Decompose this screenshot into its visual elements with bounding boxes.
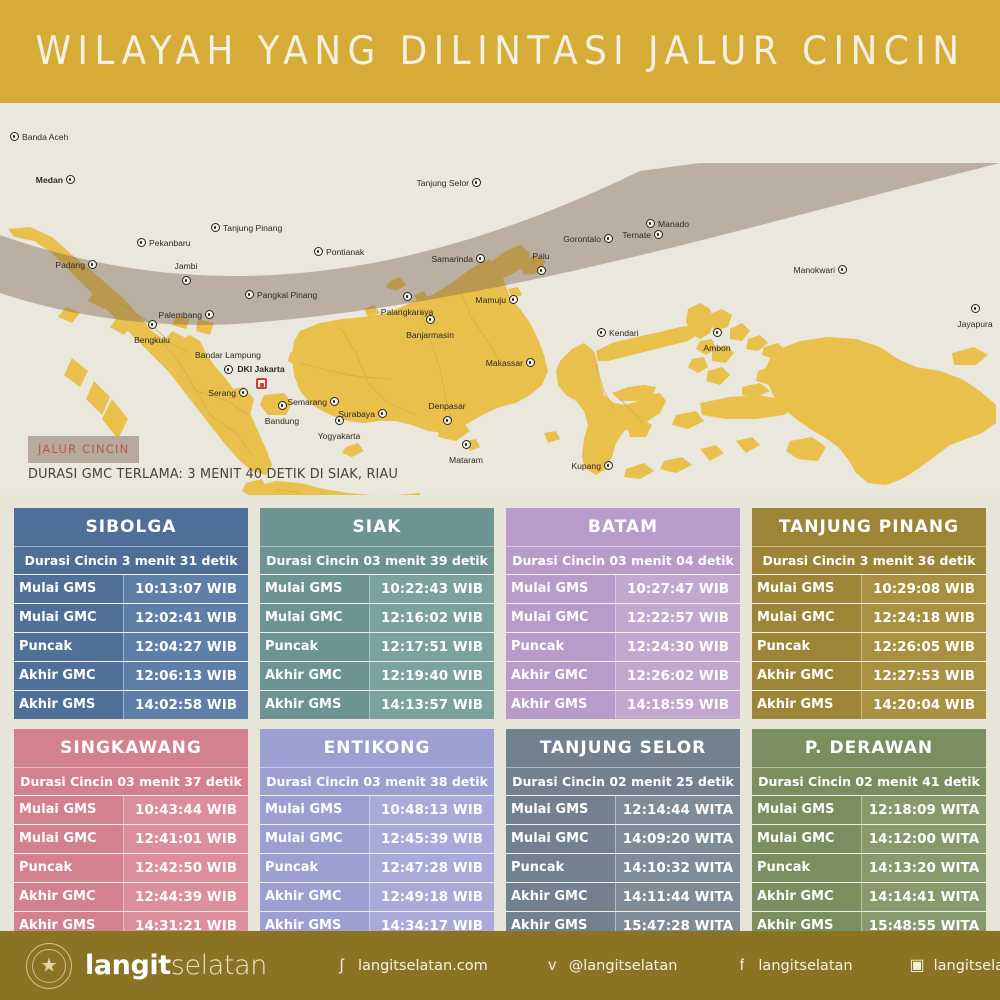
map-city-kupang: Kupang xyxy=(571,457,613,475)
row-label: Puncak xyxy=(14,633,124,661)
row-time: 10:29:08 WIB xyxy=(862,575,986,603)
row-label: Mulai GMC xyxy=(260,825,370,853)
row-label: Mulai GMS xyxy=(506,796,616,824)
brand-name-light: selatan xyxy=(171,950,267,981)
card-row: Akhir GMC14:14:41 WITA xyxy=(752,882,986,911)
map-city-manokwari: Manokwari xyxy=(793,261,847,279)
card-row: Puncak14:10:32 WITA xyxy=(506,853,740,882)
row-label: Mulai GMS xyxy=(506,575,616,603)
city-marker-icon xyxy=(838,265,847,274)
row-label: Puncak xyxy=(752,633,862,661)
card-row: Akhir GMC12:49:18 WIB xyxy=(260,882,494,911)
langitselatan-seal-icon: ★ xyxy=(26,943,72,989)
row-time: 10:27:47 WIB xyxy=(616,575,740,603)
map-city-banjarmasin: Banjarmasin xyxy=(395,311,465,340)
page-footer: ★ langitselatan ʃlangitselatan.comᴠ@lang… xyxy=(0,931,1000,1000)
map-city-tanjung-selor: Tanjung Selor xyxy=(416,174,481,192)
map-city-palu: Palu xyxy=(506,251,576,280)
city-marker-icon xyxy=(472,178,481,187)
card-row: Akhir GMS14:13:57 WIB xyxy=(260,690,494,719)
map-city-pontianak: Pontianak xyxy=(314,243,364,261)
map-city-serang: Serang xyxy=(208,384,248,402)
row-label: Akhir GMC xyxy=(14,883,124,911)
card-row: Mulai GMS12:18:09 WITA xyxy=(752,795,986,824)
row-time: 14:18:59 WIB xyxy=(616,691,740,719)
card-row: Akhir GMC12:19:40 WIB xyxy=(260,661,494,690)
city-marker-icon xyxy=(278,401,287,410)
city-marker-icon xyxy=(443,416,452,425)
city-marker-icon xyxy=(66,175,75,184)
city-label: Mamuju xyxy=(475,295,506,305)
card-batam: BATAMDurasi Cincin 03 menit 04 detikMula… xyxy=(506,508,740,719)
row-label: Akhir GMS xyxy=(260,691,370,719)
row-label: Puncak xyxy=(14,854,124,882)
card-row: Mulai GMC12:16:02 WIB xyxy=(260,603,494,632)
map-city-ambon: Ambon xyxy=(682,324,752,353)
row-label: Puncak xyxy=(506,633,616,661)
city-label: Serang xyxy=(208,388,236,398)
card-title: TANJUNG SELOR xyxy=(506,729,740,767)
map-city-pangkal-pinang: Pangkal Pinang xyxy=(245,286,317,304)
row-label: Akhir GMC xyxy=(260,883,370,911)
city-label: Palu xyxy=(506,251,576,261)
city-label: Gorontalo xyxy=(563,234,601,244)
row-label: Mulai GMC xyxy=(506,825,616,853)
row-time: 14:02:58 WIB xyxy=(124,691,248,719)
card-row: Akhir GMS14:02:58 WIB xyxy=(14,690,248,719)
map-city-tanjung-pinang: Tanjung Pinang xyxy=(211,219,282,237)
card-title: ENTIKONG xyxy=(260,729,494,767)
map-city-pekanbaru: Pekanbaru xyxy=(137,234,191,252)
city-label: Jayapura xyxy=(940,319,1000,329)
card-row: Puncak12:26:05 WIB xyxy=(752,632,986,661)
row-label: Mulai GMS xyxy=(260,796,370,824)
card-row: Mulai GMC14:09:20 WITA xyxy=(506,824,740,853)
row-time: 14:12:00 WITA xyxy=(862,825,986,853)
city-label: Pangkal Pinang xyxy=(257,290,317,300)
page-title: WILAYAH YANG DILINTASI JALUR CINCIN xyxy=(35,29,965,74)
city-marker-icon xyxy=(476,254,485,263)
row-label: Mulai GMC xyxy=(506,604,616,632)
rss-icon: ʃ xyxy=(333,958,350,974)
row-time: 12:06:13 WIB xyxy=(124,662,248,690)
city-label: Makassar xyxy=(486,358,523,368)
facebook-icon: f xyxy=(733,958,750,974)
card-row: Akhir GMS14:18:59 WIB xyxy=(506,690,740,719)
row-label: Mulai GMC xyxy=(14,825,124,853)
social-handle: langitselatan.com xyxy=(358,958,488,974)
brand-name-bold: langit xyxy=(85,950,171,981)
row-time: 12:44:39 WIB xyxy=(124,883,248,911)
city-marker-icon xyxy=(182,276,191,285)
city-label: Denpasar xyxy=(412,401,482,411)
city-label: Kendari xyxy=(609,328,639,338)
row-label: Mulai GMC xyxy=(14,604,124,632)
row-label: Mulai GMC xyxy=(752,604,862,632)
row-label: Akhir GMS xyxy=(752,691,862,719)
city-label: Tanjung Pinang xyxy=(223,223,282,233)
map-city-gorontalo: Gorontalo xyxy=(563,230,613,248)
card-row: Mulai GMS10:29:08 WIB xyxy=(752,574,986,603)
map-city-mataram: Mataram xyxy=(431,436,501,465)
card-row: Puncak12:42:50 WIB xyxy=(14,853,248,882)
row-label: Akhir GMC xyxy=(752,662,862,690)
card-duration: Durasi Cincin 02 menit 25 detik xyxy=(506,767,740,795)
city-marker-icon xyxy=(971,304,980,313)
row-time: 12:16:02 WIB xyxy=(370,604,494,632)
row-time: 12:19:40 WIB xyxy=(370,662,494,690)
row-time: 12:22:57 WIB xyxy=(616,604,740,632)
card-row: Puncak12:47:28 WIB xyxy=(260,853,494,882)
row-time: 14:09:20 WITA xyxy=(616,825,740,853)
city-marker-icon xyxy=(10,132,19,141)
city-marker-icon xyxy=(88,260,97,269)
city-label: Ternate xyxy=(622,230,651,240)
row-label: Mulai GMS xyxy=(752,575,862,603)
card-row: Akhir GMC14:11:44 WITA xyxy=(506,882,740,911)
row-label: Akhir GMS xyxy=(506,691,616,719)
row-time: 10:22:43 WIB xyxy=(370,575,494,603)
card-row: Mulai GMS10:48:13 WIB xyxy=(260,795,494,824)
card-duration: Durasi Cincin 02 menit 41 detik xyxy=(752,767,986,795)
map-city-bengkulu: Bengkulu xyxy=(117,316,187,345)
legend-label: JALUR CINCIN xyxy=(38,442,129,456)
row-time: 12:26:02 WIB xyxy=(616,662,740,690)
social-link-instagram[interactable]: ▣langitselatanmedia xyxy=(909,958,1000,974)
card-title: BATAM xyxy=(506,508,740,546)
city-marker-icon xyxy=(537,266,546,275)
row-label: Mulai GMS xyxy=(260,575,370,603)
card-entikong: ENTIKONGDurasi Cincin 03 menit 38 detikM… xyxy=(260,729,494,940)
row-time: 14:13:20 WITA xyxy=(862,854,986,882)
row-time: 12:41:01 WIB xyxy=(124,825,248,853)
map-city-samarinda: Samarinda xyxy=(431,250,485,268)
card-row: Mulai GMC12:02:41 WIB xyxy=(14,603,248,632)
card-row: Puncak12:04:27 WIB xyxy=(14,632,248,661)
city-timing-cards: SIBOLGADurasi Cincin 3 menit 31 detikMul… xyxy=(14,508,986,940)
row-time: 12:18:09 WITA xyxy=(862,796,986,824)
row-label: Mulai GMS xyxy=(14,796,124,824)
city-marker-icon xyxy=(245,290,254,299)
city-label: Pontianak xyxy=(326,247,364,257)
row-label: Akhir GMS xyxy=(14,691,124,719)
social-handle: @langitselatan xyxy=(569,958,678,974)
row-label: Akhir GMC xyxy=(14,662,124,690)
row-label: Mulai GMS xyxy=(14,575,124,603)
map-city-banda-aceh: Banda Aceh xyxy=(10,128,68,146)
city-label: Tanjung Selor xyxy=(416,178,469,188)
city-marker-icon xyxy=(713,328,722,337)
city-marker-icon xyxy=(205,310,214,319)
city-label: Kupang xyxy=(571,461,601,471)
row-label: Mulai GMC xyxy=(752,825,862,853)
row-time: 14:10:32 WITA xyxy=(616,854,740,882)
card-title: SIAK xyxy=(260,508,494,546)
map-city-padang: Padang xyxy=(55,256,97,274)
social-links: ʃlangitselatan.comᴠ@langitselatanflangit… xyxy=(333,958,1000,974)
row-time: 10:13:07 WIB xyxy=(124,575,248,603)
indonesia-map: Banda AcehMedanTanjung PinangPekanbaruPa… xyxy=(0,103,1000,495)
card-duration: Durasi Cincin 03 menit 39 detik xyxy=(260,546,494,574)
social-handle: langitselatan xyxy=(758,958,852,974)
social-handle: langitselatanmedia xyxy=(934,958,1000,974)
map-city-denpasar: Denpasar xyxy=(412,401,482,430)
city-label: Semarang xyxy=(287,397,327,407)
card-title: SINGKAWANG xyxy=(14,729,248,767)
row-label: Puncak xyxy=(260,633,370,661)
row-time: 12:24:30 WIB xyxy=(616,633,740,661)
city-label: Jambi xyxy=(151,261,221,271)
city-label: Manokwari xyxy=(793,265,835,275)
row-time: 12:04:27 WIB xyxy=(124,633,248,661)
instagram-icon: ▣ xyxy=(909,958,926,974)
brand-wordmark: langitselatan xyxy=(85,952,267,979)
infographic-page: WILAYAH YANG DILINTASI JALUR CINCIN xyxy=(0,0,1000,1000)
map-caption: DURASI GMC TERLAMA: 3 MENIT 40 DETIK DI … xyxy=(28,466,398,482)
map-city-jayapura: Jayapura xyxy=(940,300,1000,329)
card-row: Akhir GMC12:06:13 WIB xyxy=(14,661,248,690)
social-link-twitter[interactable]: ᴠ@langitselatan xyxy=(544,958,678,974)
city-marker-icon xyxy=(654,230,663,239)
row-label: Puncak xyxy=(752,854,862,882)
card-duration: Durasi Cincin 03 menit 37 detik xyxy=(14,767,248,795)
card-row: Mulai GMC12:41:01 WIB xyxy=(14,824,248,853)
card-row: Akhir GMS14:20:04 WIB xyxy=(752,690,986,719)
row-time: 12:27:53 WIB xyxy=(862,662,986,690)
card-row: Mulai GMS10:43:44 WIB xyxy=(14,795,248,824)
map-city-medan: Medan xyxy=(36,171,75,189)
city-label: Yogyakarta xyxy=(304,431,374,441)
map-city-kendari: Kendari xyxy=(597,324,639,342)
card-row: Akhir GMC12:44:39 WIB xyxy=(14,882,248,911)
row-time: 14:14:41 WITA xyxy=(862,883,986,911)
card-row: Puncak14:13:20 WITA xyxy=(752,853,986,882)
row-time: 12:45:39 WIB xyxy=(370,825,494,853)
card-duration: Durasi Cincin 03 menit 04 detik xyxy=(506,546,740,574)
row-time: 12:14:44 WITA xyxy=(616,796,740,824)
card-row: Puncak12:24:30 WIB xyxy=(506,632,740,661)
row-time: 10:48:13 WIB xyxy=(370,796,494,824)
row-time: 12:47:28 WIB xyxy=(370,854,494,882)
card-row: Puncak12:17:51 WIB xyxy=(260,632,494,661)
row-label: Puncak xyxy=(260,854,370,882)
city-label: Banjarmasin xyxy=(395,330,465,340)
card-sibolga: SIBOLGADurasi Cincin 3 menit 31 detikMul… xyxy=(14,508,248,719)
city-label: DKI Jakarta xyxy=(226,364,296,374)
row-time: 12:17:51 WIB xyxy=(370,633,494,661)
map-city-makassar: Makassar xyxy=(486,354,535,372)
row-time: 14:11:44 WITA xyxy=(616,883,740,911)
card-row: Mulai GMC12:24:18 WIB xyxy=(752,603,986,632)
city-label: Samarinda xyxy=(431,254,473,264)
card-row: Mulai GMC12:45:39 WIB xyxy=(260,824,494,853)
brand-logo: ★ langitselatan xyxy=(26,943,267,989)
legend-jalur-cincin: JALUR CINCIN xyxy=(28,436,139,463)
map-city-semarang: Semarang xyxy=(287,393,339,411)
card-row: Mulai GMS10:13:07 WIB xyxy=(14,574,248,603)
card-row: Mulai GMC12:22:57 WIB xyxy=(506,603,740,632)
city-marker-icon xyxy=(211,223,220,232)
row-label: Akhir GMC xyxy=(506,662,616,690)
city-marker-icon xyxy=(403,292,412,301)
city-marker-icon xyxy=(597,328,606,337)
card-row: Mulai GMS10:22:43 WIB xyxy=(260,574,494,603)
map-city-surabaya: Surabaya xyxy=(338,405,387,423)
city-label: Banda Aceh xyxy=(22,132,68,142)
row-time: 14:13:57 WIB xyxy=(370,691,494,719)
row-time: 12:42:50 WIB xyxy=(124,854,248,882)
card-title: P. DERAWAN xyxy=(752,729,986,767)
row-label: Akhir GMC xyxy=(752,883,862,911)
city-marker-icon xyxy=(256,378,267,389)
social-link-facebook[interactable]: flangitselatan xyxy=(733,958,852,974)
row-label: Puncak xyxy=(506,854,616,882)
city-marker-icon xyxy=(239,388,248,397)
city-label: Bengkulu xyxy=(117,335,187,345)
map-city-jambi: Jambi xyxy=(151,261,221,290)
city-marker-icon xyxy=(462,440,471,449)
card-row: Mulai GMS10:27:47 WIB xyxy=(506,574,740,603)
map-city-mamuju: Mamuju xyxy=(475,291,518,309)
city-label: Pekanbaru xyxy=(149,238,191,248)
city-label: Padang xyxy=(55,260,85,270)
map-city-ternate: Ternate xyxy=(622,226,663,244)
city-label: Mataram xyxy=(431,455,501,465)
card-row: Akhir GMC12:26:02 WIB xyxy=(506,661,740,690)
card-row: Akhir GMC12:27:53 WIB xyxy=(752,661,986,690)
city-label: Surabaya xyxy=(338,409,375,419)
social-link-rss[interactable]: ʃlangitselatan.com xyxy=(333,958,488,974)
row-time: 12:24:18 WIB xyxy=(862,604,986,632)
card-duration: Durasi Cincin 03 menit 38 detik xyxy=(260,767,494,795)
card-row: Mulai GMS12:14:44 WITA xyxy=(506,795,740,824)
card-siak: SIAKDurasi Cincin 03 menit 39 detikMulai… xyxy=(260,508,494,719)
city-marker-icon xyxy=(604,461,613,470)
row-time: 12:02:41 WIB xyxy=(124,604,248,632)
row-time: 14:20:04 WIB xyxy=(862,691,986,719)
card-row: Mulai GMC14:12:00 WITA xyxy=(752,824,986,853)
card-title: SIBOLGA xyxy=(14,508,248,546)
city-marker-icon xyxy=(509,295,518,304)
city-marker-icon xyxy=(526,358,535,367)
row-time: 12:26:05 WIB xyxy=(862,633,986,661)
city-marker-icon xyxy=(426,315,435,324)
city-label: Bandar Lampung xyxy=(193,350,263,360)
page-header: WILAYAH YANG DILINTASI JALUR CINCIN xyxy=(0,0,1000,103)
row-time: 12:49:18 WIB xyxy=(370,883,494,911)
card-tanjung-selor: TANJUNG SELORDurasi Cincin 02 menit 25 d… xyxy=(506,729,740,940)
card-duration: Durasi Cincin 3 menit 36 detik xyxy=(752,546,986,574)
city-marker-icon xyxy=(137,238,146,247)
city-label: Ambon xyxy=(682,343,752,353)
card-duration: Durasi Cincin 3 menit 31 detik xyxy=(14,546,248,574)
city-marker-icon xyxy=(314,247,323,256)
card-singkawang: SINGKAWANGDurasi Cincin 03 menit 37 deti… xyxy=(14,729,248,940)
row-label: Mulai GMS xyxy=(752,796,862,824)
city-label: Medan xyxy=(36,175,63,185)
city-marker-icon xyxy=(604,234,613,243)
row-label: Mulai GMC xyxy=(260,604,370,632)
card-title: TANJUNG PINANG xyxy=(752,508,986,546)
card-tanjung-pinang: TANJUNG PINANGDurasi Cincin 3 menit 36 d… xyxy=(752,508,986,719)
row-time: 10:43:44 WIB xyxy=(124,796,248,824)
row-label: Akhir GMC xyxy=(260,662,370,690)
card-p-derawan: P. DERAWANDurasi Cincin 02 menit 41 deti… xyxy=(752,729,986,940)
twitter-icon: ᴠ xyxy=(544,958,561,974)
city-marker-icon xyxy=(148,320,157,329)
row-label: Akhir GMC xyxy=(506,883,616,911)
city-marker-icon xyxy=(378,409,387,418)
